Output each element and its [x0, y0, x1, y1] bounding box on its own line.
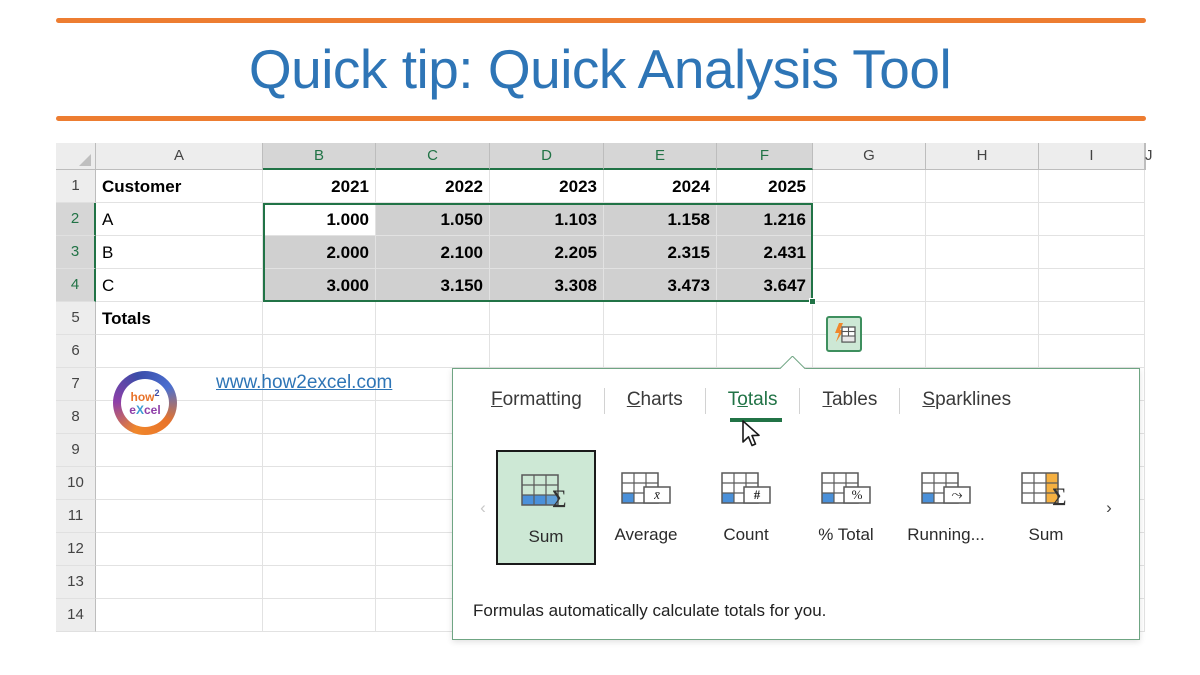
tab-charts[interactable]: Charts — [605, 383, 705, 411]
options-prev-chevron-icon[interactable]: ‹ — [470, 499, 496, 516]
accelerator-char: o — [737, 389, 748, 410]
accelerator-char: T — [822, 389, 832, 410]
option-label: Sum — [1029, 525, 1064, 545]
cell-customer-C[interactable]: C — [96, 269, 263, 302]
svg-text:⤳: ⤳ — [951, 488, 962, 503]
row-header-12[interactable]: 12 — [56, 533, 96, 566]
cell-header-year-2021[interactable]: 2021 — [263, 170, 376, 203]
column-header-e[interactable]: E — [604, 143, 717, 170]
row-header-11[interactable]: 11 — [56, 500, 96, 533]
cell-header-year-2024[interactable]: 2024 — [604, 170, 717, 203]
column-header-g[interactable]: G — [813, 143, 926, 170]
option-label: Sum — [529, 527, 564, 547]
cell-A10[interactable] — [96, 467, 263, 500]
cell-H5[interactable] — [926, 302, 1039, 335]
cell-I4[interactable] — [1039, 269, 1145, 302]
running-total-icon: ⤳ — [919, 463, 973, 519]
tab-formatting[interactable]: Formatting — [469, 383, 604, 411]
svg-text:%: % — [852, 487, 863, 502]
cell-A13[interactable] — [96, 566, 263, 599]
cell-D4[interactable]: 3.308 — [490, 269, 604, 302]
logo-inner: how2 eXcel — [121, 379, 169, 427]
cell-H6[interactable] — [926, 335, 1039, 368]
cell-B3[interactable]: 2.000 — [263, 236, 376, 269]
quick-analysis-options[interactable]: ‹ΣSumx̄Average#Count%% Total⤳Running...Σ… — [453, 447, 1139, 567]
cell-G1[interactable] — [813, 170, 926, 203]
cell-D5[interactable] — [490, 302, 604, 335]
quick-analysis-description: Formulas automatically calculate totals … — [473, 601, 826, 621]
select-all-corner[interactable] — [56, 143, 96, 170]
cell-customer-B[interactable]: B — [96, 236, 263, 269]
cell-B8[interactable] — [263, 401, 376, 434]
cell-E3[interactable]: 2.315 — [604, 236, 717, 269]
option-sum-column[interactable]: ΣSum — [996, 450, 1096, 565]
cell-D6[interactable] — [490, 335, 604, 368]
cell-I5[interactable] — [1039, 302, 1145, 335]
sum-row-icon: Σ — [519, 465, 573, 521]
cell-C4[interactable]: 3.150 — [376, 269, 490, 302]
cell-C6[interactable] — [376, 335, 490, 368]
accelerator-char: S — [922, 389, 935, 410]
cell-F5[interactable] — [717, 302, 813, 335]
website-url-link[interactable]: www.how2excel.com — [216, 372, 392, 394]
cell-D2[interactable]: 1.103 — [490, 203, 604, 236]
options-next-chevron-icon[interactable]: › — [1096, 499, 1122, 516]
row-header-7[interactable]: 7 — [56, 368, 96, 401]
cell-H4[interactable] — [926, 269, 1039, 302]
active-tab-indicator — [730, 418, 782, 422]
option-label: Average — [614, 525, 677, 545]
page-title: Quick tip: Quick Analysis Tool — [0, 33, 1200, 105]
fill-handle[interactable] — [809, 298, 816, 305]
option-label: Running... — [907, 525, 985, 545]
sum-column-icon: Σ — [1019, 463, 1073, 519]
cell-F4[interactable]: 3.647 — [717, 269, 813, 302]
row-header-8[interactable]: 8 — [56, 401, 96, 434]
cell-D3[interactable]: 2.205 — [490, 236, 604, 269]
cell-header-year-2023[interactable]: 2023 — [490, 170, 604, 203]
cell-B11[interactable] — [263, 500, 376, 533]
column-header-i[interactable]: I — [1039, 143, 1145, 170]
svg-text:Σ: Σ — [1052, 484, 1067, 511]
cell-A9[interactable] — [96, 434, 263, 467]
option-label: % Total — [818, 525, 873, 545]
cell-E5[interactable] — [604, 302, 717, 335]
quick-analysis-popup[interactable]: FormattingChartsTotalsTablesSparklines ‹… — [452, 368, 1140, 640]
cell-A14[interactable] — [96, 599, 263, 632]
percent-total-icon: % — [819, 463, 873, 519]
cell-G3[interactable] — [813, 236, 926, 269]
column-header-b[interactable]: B — [263, 143, 376, 170]
accelerator-char: F — [491, 389, 503, 410]
option-sum-row[interactable]: ΣSum — [496, 450, 596, 565]
logo-line-1: how2 — [130, 389, 159, 404]
cell-E6[interactable] — [604, 335, 717, 368]
column-header-j[interactable]: J — [1145, 143, 1146, 170]
cell-C2[interactable]: 1.050 — [376, 203, 490, 236]
quick-analysis-icon — [828, 318, 860, 350]
cell-I2[interactable] — [1039, 203, 1145, 236]
tab-totals[interactable]: Totals — [706, 383, 800, 411]
cell-H3[interactable] — [926, 236, 1039, 269]
option-average[interactable]: x̄Average — [596, 450, 696, 565]
cell-I3[interactable] — [1039, 236, 1145, 269]
logo-line-2: eXcel — [129, 404, 160, 417]
cell-B4[interactable]: 3.000 — [263, 269, 376, 302]
column-header-d[interactable]: D — [490, 143, 604, 170]
row-header-3[interactable]: 3 — [56, 236, 96, 269]
cell-B6[interactable] — [263, 335, 376, 368]
cell-B14[interactable] — [263, 599, 376, 632]
row-header-6[interactable]: 6 — [56, 335, 96, 368]
cell-E4[interactable]: 3.473 — [604, 269, 717, 302]
svg-text:x̄: x̄ — [653, 487, 660, 502]
column-header-h[interactable]: H — [926, 143, 1039, 170]
cell-E2[interactable]: 1.158 — [604, 203, 717, 236]
accelerator-char: C — [627, 389, 641, 410]
row-header-1[interactable]: 1 — [56, 170, 96, 203]
row-header-5[interactable]: 5 — [56, 302, 96, 335]
cell-H1[interactable] — [926, 170, 1039, 203]
cell-H2[interactable] — [926, 203, 1039, 236]
row-header-2[interactable]: 2 — [56, 203, 96, 236]
count-icon: # — [719, 463, 773, 519]
cell-C5[interactable] — [376, 302, 490, 335]
row-header-10[interactable]: 10 — [56, 467, 96, 500]
cell-G4[interactable] — [813, 269, 926, 302]
cell-F2[interactable]: 1.216 — [717, 203, 813, 236]
cell-A1-customer[interactable]: Customer — [96, 170, 263, 203]
option-label: Count — [723, 525, 768, 545]
cell-B2[interactable]: 1.000 — [263, 203, 376, 236]
cell-I1[interactable] — [1039, 170, 1145, 203]
svg-text:Σ: Σ — [552, 486, 567, 513]
cell-A12[interactable] — [96, 533, 263, 566]
option-percent-total[interactable]: %% Total — [796, 450, 896, 565]
row-header-4[interactable]: 4 — [56, 269, 96, 302]
cell-header-year-2025[interactable]: 2025 — [717, 170, 813, 203]
cell-C3[interactable]: 2.100 — [376, 236, 490, 269]
cell-A11[interactable] — [96, 500, 263, 533]
cell-G2[interactable] — [813, 203, 926, 236]
svg-text:#: # — [754, 487, 761, 502]
cell-I6[interactable] — [1039, 335, 1145, 368]
column-header-a[interactable]: A — [96, 143, 263, 170]
cell-F3[interactable]: 2.431 — [717, 236, 813, 269]
row-header-9[interactable]: 9 — [56, 434, 96, 467]
cell-B10[interactable] — [263, 467, 376, 500]
row-header-14[interactable]: 14 — [56, 599, 96, 632]
option-running-total[interactable]: ⤳Running... — [896, 450, 996, 565]
quick-analysis-tabs[interactable]: FormattingChartsTotalsTablesSparklines — [453, 383, 1139, 431]
tab-sparklines[interactable]: Sparklines — [900, 383, 1033, 411]
cell-A5-totals[interactable]: Totals — [96, 302, 263, 335]
cell-B12[interactable] — [263, 533, 376, 566]
cell-B13[interactable] — [263, 566, 376, 599]
cell-customer-A[interactable]: A — [96, 203, 263, 236]
column-header-c[interactable]: C — [376, 143, 490, 170]
tab-tables[interactable]: Tables — [800, 383, 899, 411]
title-rule-bottom — [56, 116, 1146, 121]
popup-callout-arrow — [773, 356, 813, 369]
average-icon: x̄ — [619, 463, 673, 519]
option-count[interactable]: #Count — [696, 450, 796, 565]
quick-analysis-button[interactable] — [826, 316, 862, 352]
cell-B5[interactable] — [263, 302, 376, 335]
row-header-13[interactable]: 13 — [56, 566, 96, 599]
column-header-f[interactable]: F — [717, 143, 813, 170]
how2excel-logo: how2 eXcel — [113, 371, 177, 435]
title-rule-top — [56, 18, 1146, 23]
cell-A6[interactable] — [96, 335, 263, 368]
cell-header-year-2022[interactable]: 2022 — [376, 170, 490, 203]
cell-B9[interactable] — [263, 434, 376, 467]
